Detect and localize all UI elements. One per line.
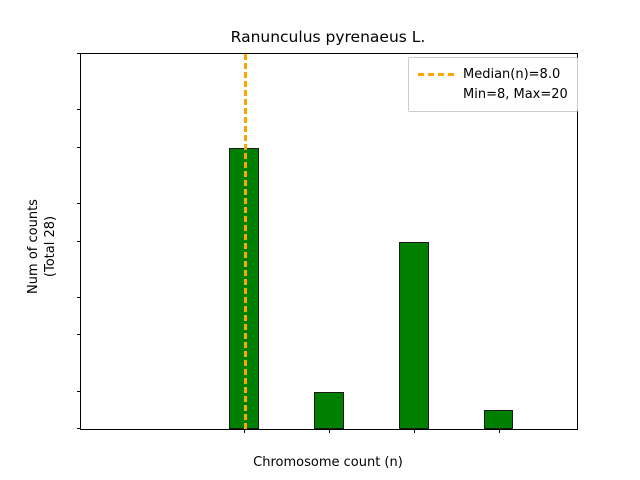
bar-12 bbox=[314, 392, 344, 430]
y-tick-17 bbox=[77, 109, 81, 110]
legend-label-median: Median(n)=8.0 bbox=[463, 67, 560, 82]
y-tick-5 bbox=[77, 334, 81, 335]
y-tick-7 bbox=[77, 297, 81, 298]
chart-legend: Median(n)=8.0 Min=8, Max=20 bbox=[408, 57, 578, 112]
dashed-line-icon bbox=[418, 68, 454, 80]
x-tick-16 bbox=[414, 429, 415, 433]
y-axis-label-line-2: (Total 28) bbox=[44, 59, 57, 434]
y-tick-15 bbox=[77, 147, 81, 148]
bar-16 bbox=[399, 242, 429, 430]
y-tick-2 bbox=[77, 391, 81, 392]
y-tick-12 bbox=[77, 203, 81, 204]
x-tick-8 bbox=[244, 429, 245, 433]
bar-20 bbox=[484, 410, 514, 429]
x-axis-label: Chromosome count (n) bbox=[80, 455, 576, 470]
legend-item-minmax: Min=8, Max=20 bbox=[418, 84, 568, 104]
chart-figure: Ranunculus pyrenaeus L. 0257101215172081… bbox=[0, 0, 640, 480]
legend-item-median: Median(n)=8.0 bbox=[418, 64, 568, 84]
median-line bbox=[244, 54, 247, 429]
blank-handle-icon bbox=[418, 88, 454, 100]
y-tick-20 bbox=[77, 53, 81, 54]
y-tick-0 bbox=[77, 428, 81, 429]
chart-title: Ranunculus pyrenaeus L. bbox=[80, 28, 576, 46]
y-tick-10 bbox=[77, 241, 81, 242]
x-tick-20 bbox=[499, 429, 500, 433]
x-tick-12 bbox=[329, 429, 330, 433]
legend-label-minmax: Min=8, Max=20 bbox=[463, 87, 568, 102]
y-axis-label-line-1: Num of counts bbox=[27, 59, 40, 434]
